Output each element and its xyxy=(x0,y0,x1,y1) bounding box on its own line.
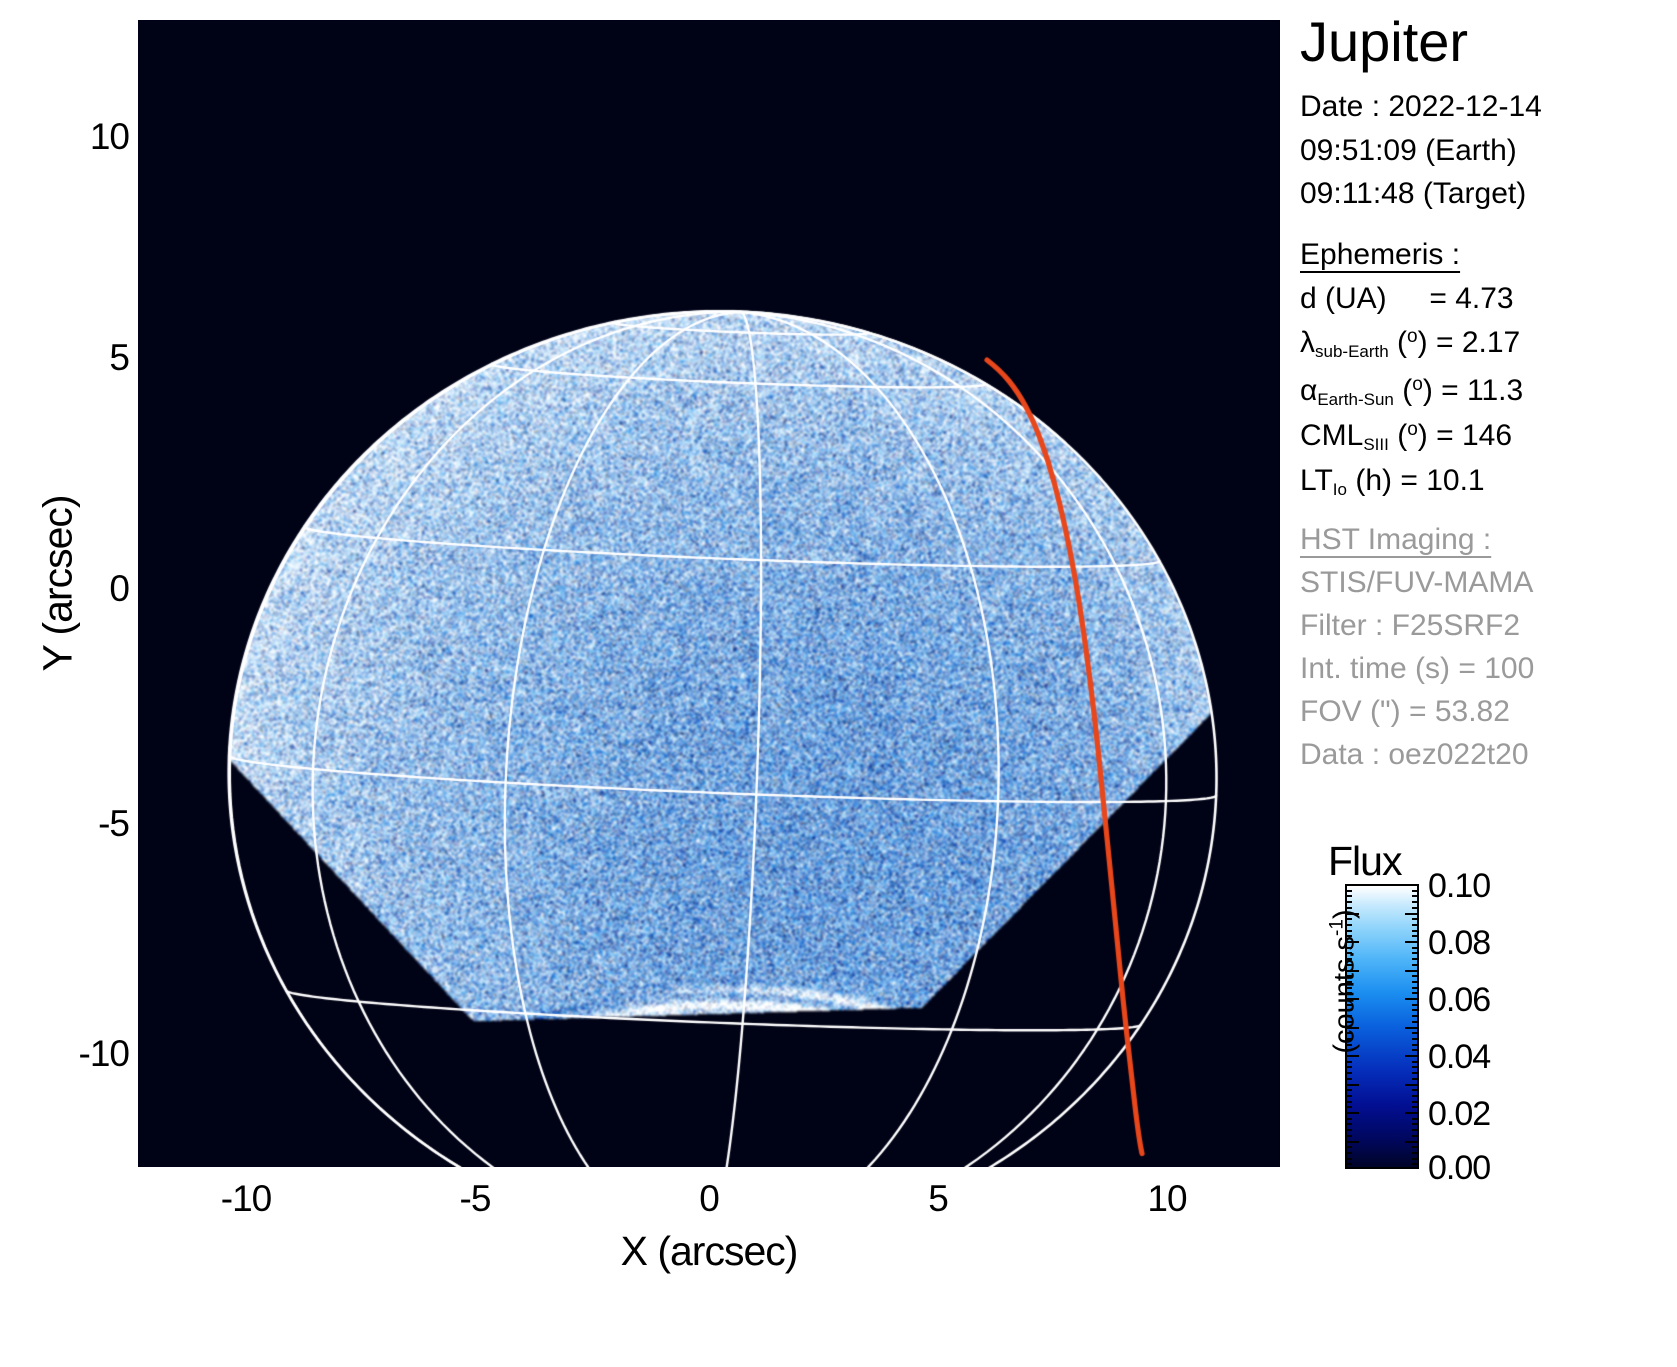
colorbar-minor-tick xyxy=(1345,964,1352,966)
colorbar-minor-tick xyxy=(1345,1129,1352,1131)
colorbar-minor-tick xyxy=(1345,1135,1352,1137)
colorbar-minor-tick xyxy=(1345,930,1352,932)
colorbar-minor-tick xyxy=(1405,913,1419,915)
colorbar-minor-tick xyxy=(1405,1141,1419,1143)
colorbar-minor-tick xyxy=(1412,918,1419,920)
colorbar-minor-tick xyxy=(1345,1152,1352,1154)
colorbar-minor-tick xyxy=(1412,1015,1419,1017)
x-axis-label: X (arcsec) xyxy=(0,1228,1418,1275)
colorbar-minor-tick xyxy=(1345,992,1352,994)
colorbar-minor-tick xyxy=(1412,1118,1419,1120)
colorbar-minor-tick xyxy=(1345,981,1352,983)
colorbar-minor-tick xyxy=(1412,975,1419,977)
ephemeris-symbol: LT xyxy=(1300,464,1333,497)
colorbar-minor-tick xyxy=(1345,1015,1352,1017)
colorbar-minor-tick xyxy=(1412,1032,1419,1034)
x-tick-m10: -10 xyxy=(186,1178,306,1220)
colorbar-minor-tick xyxy=(1412,1089,1419,1091)
ephemeris-unit: (o) xyxy=(1402,374,1433,407)
colorbar-minor-tick xyxy=(1345,1118,1352,1120)
colorbar-minor-tick xyxy=(1412,1095,1419,1097)
ephemeris-subscript: Io xyxy=(1333,480,1347,499)
ephemeris-unit: (h) xyxy=(1355,464,1392,497)
colorbar-minor-tick xyxy=(1412,1135,1419,1137)
colorbar-minor-tick xyxy=(1412,1072,1419,1074)
y-axis-label: Y (arcsec) xyxy=(35,434,82,734)
colorbar-minor-tick xyxy=(1345,958,1352,960)
colorbar-minor-tick xyxy=(1405,970,1419,972)
x-tick-0: 0 xyxy=(649,1178,769,1220)
colorbar-minor-tick xyxy=(1345,1072,1352,1074)
colorbar-minor-tick xyxy=(1345,975,1352,977)
ephemeris-symbol: CML xyxy=(1300,419,1363,452)
ephemeris-row-sub-earth-lat: λsub-Earth (o) = 2.17 xyxy=(1300,328,1520,358)
ephemeris-symbol: d (UA) xyxy=(1300,282,1387,315)
ephemeris-subscript: Earth-Sun xyxy=(1317,390,1394,409)
ephemeris-row-phase-angle: αEarth-Sun (o) = 11.3 xyxy=(1300,376,1523,406)
colorbar-minor-tick xyxy=(1412,1078,1419,1080)
colorbar-minor-tick xyxy=(1412,981,1419,983)
aurora-image-canvas xyxy=(138,20,1280,1167)
colorbar-minor-tick xyxy=(1345,913,1359,915)
colorbar-minor-tick xyxy=(1345,987,1352,989)
ephemeris-row-distance: d (UA) = 4.73 xyxy=(1300,284,1514,314)
colorbar-minor-tick xyxy=(1345,890,1352,892)
colorbar-minor-tick xyxy=(1345,901,1352,903)
colorbar-minor-tick xyxy=(1345,907,1352,909)
colorbar-minor-tick xyxy=(1412,987,1419,989)
colorbar-minor-tick xyxy=(1345,1009,1352,1011)
colorbar-minor-tick xyxy=(1412,1152,1419,1154)
colorbar-minor-tick xyxy=(1345,1004,1352,1006)
ephemeris-symbol: α xyxy=(1300,374,1317,407)
ephemeris-unit: (o) xyxy=(1397,326,1428,359)
page-title: Jupiter xyxy=(1300,14,1468,70)
colorbar-minor-tick xyxy=(1412,1106,1419,1108)
observation-date: Date : 2022-12-14 xyxy=(1300,92,1542,122)
colorbar-title: Flux xyxy=(1328,838,1401,885)
colorbar-minor-tick xyxy=(1405,1084,1419,1086)
colorbar-minor-tick xyxy=(1412,1049,1419,1051)
aurora-image-plot xyxy=(138,20,1280,1167)
hst-data-id: Data : oez022t20 xyxy=(1300,740,1529,770)
hst-int-time: Int. time (s) = 100 xyxy=(1300,654,1534,684)
colorbar-minor-tick xyxy=(1412,890,1419,892)
colorbar-minor-tick xyxy=(1412,901,1419,903)
colorbar-minor-tick xyxy=(1412,1061,1419,1063)
ephemeris-heading: Ephemeris : xyxy=(1300,240,1538,270)
colorbar-minor-tick xyxy=(1345,1038,1352,1040)
colorbar-minor-tick xyxy=(1345,998,1359,1000)
colorbar-minor-tick xyxy=(1345,1078,1352,1080)
ephemeris-value: = 11.3 xyxy=(1441,374,1523,407)
colorbar-minor-tick xyxy=(1412,992,1419,994)
colorbar-minor-tick xyxy=(1412,930,1419,932)
observation-time-target: 09:11:48 (Target) xyxy=(1300,179,1526,209)
colorbar-minor-tick xyxy=(1412,895,1419,897)
colorbar-minor-tick xyxy=(1412,952,1419,954)
colorbar-tick-0.04: 0.04 xyxy=(1428,1038,1490,1077)
colorbar-minor-tick xyxy=(1345,1032,1352,1034)
colorbar-minor-tick xyxy=(1405,998,1419,1000)
colorbar-minor-tick xyxy=(1412,1066,1419,1068)
hst-fov: FOV (") = 53.82 xyxy=(1300,697,1510,727)
colorbar-minor-tick xyxy=(1412,935,1419,937)
hst-instrument: STIS/FUV-MAMA xyxy=(1300,568,1533,598)
colorbar-minor-tick xyxy=(1345,1044,1352,1046)
colorbar-minor-tick xyxy=(1345,918,1352,920)
colorbar-minor-tick xyxy=(1345,1106,1352,1108)
colorbar-minor-tick xyxy=(1345,1095,1352,1097)
colorbar-minor-tick xyxy=(1345,1089,1352,1091)
ephemeris-value: = 2.17 xyxy=(1436,326,1520,359)
colorbar-minor-tick xyxy=(1412,907,1419,909)
colorbar-minor-tick xyxy=(1412,1146,1419,1148)
colorbar-minor-tick xyxy=(1412,1158,1419,1160)
colorbar-minor-tick xyxy=(1412,1101,1419,1103)
x-tick-10: 10 xyxy=(1107,1178,1227,1220)
colorbar-minor-tick xyxy=(1345,924,1352,926)
colorbar-minor-tick xyxy=(1345,1027,1359,1029)
colorbar-minor-tick xyxy=(1345,1158,1352,1160)
colorbar-minor-tick xyxy=(1412,958,1419,960)
colorbar-minor-tick xyxy=(1345,1163,1352,1165)
colorbar-minor-tick xyxy=(1405,941,1419,943)
colorbar-minor-tick xyxy=(1405,1055,1419,1057)
x-tick-5: 5 xyxy=(878,1178,998,1220)
colorbar-minor-tick xyxy=(1405,1027,1419,1029)
colorbar-minor-tick xyxy=(1345,1021,1352,1023)
colorbar-minor-tick xyxy=(1412,1038,1419,1040)
colorbar-minor-tick xyxy=(1345,1055,1359,1057)
colorbar-minor-tick xyxy=(1345,970,1359,972)
colorbar-minor-tick xyxy=(1412,947,1419,949)
colorbar-minor-tick xyxy=(1412,924,1419,926)
colorbar-minor-tick xyxy=(1412,1123,1419,1125)
colorbar-minor-tick xyxy=(1345,1061,1352,1063)
ephemeris-subscript: sub-Earth xyxy=(1315,342,1389,361)
observation-time-earth: 09:51:09 (Earth) xyxy=(1300,136,1517,166)
colorbar-minor-tick xyxy=(1412,1004,1419,1006)
colorbar-tick-0.02: 0.02 xyxy=(1428,1095,1490,1134)
colorbar-minor-tick xyxy=(1345,1066,1352,1068)
colorbar-minor-tick xyxy=(1345,1084,1359,1086)
colorbar-minor-tick xyxy=(1405,1112,1419,1114)
ephemeris-unit: (o) xyxy=(1397,419,1428,452)
hst-imaging-heading: HST Imaging : xyxy=(1300,525,1542,555)
colorbar-minor-tick xyxy=(1345,1112,1359,1114)
colorbar-minor-tick xyxy=(1345,947,1352,949)
ephemeris-row-io-local-time: LTIo (h) = 10.1 xyxy=(1300,466,1485,496)
colorbar-minor-tick xyxy=(1345,935,1352,937)
x-tick-m5: -5 xyxy=(415,1178,535,1220)
colorbar-minor-tick xyxy=(1412,1163,1419,1165)
colorbar-minor-tick xyxy=(1345,1146,1352,1148)
colorbar-minor-tick xyxy=(1345,1123,1352,1125)
colorbar-minor-tick xyxy=(1412,1044,1419,1046)
colorbar-minor-tick xyxy=(1345,1049,1352,1051)
colorbar-minor-tick xyxy=(1345,1141,1359,1143)
colorbar-tick-0.06: 0.06 xyxy=(1428,981,1490,1020)
ephemeris-value: = 146 xyxy=(1436,419,1512,452)
colorbar-tick-0.08: 0.08 xyxy=(1428,924,1490,963)
ephemeris-value: = 10.1 xyxy=(1400,464,1484,497)
colorbar-tick-0.00: 0.00 xyxy=(1428,1149,1490,1188)
colorbar-minor-tick xyxy=(1412,964,1419,966)
colorbar-minor-tick xyxy=(1412,1021,1419,1023)
colorbar-minor-tick xyxy=(1345,941,1359,943)
colorbar-tick-0.10: 0.10 xyxy=(1428,867,1490,906)
colorbar-minor-tick xyxy=(1412,1129,1419,1131)
hst-filter: Filter : F25SRF2 xyxy=(1300,611,1520,641)
ephemeris-symbol: λ xyxy=(1300,326,1315,359)
colorbar-minor-tick xyxy=(1345,1101,1352,1103)
ephemeris-value: = 4.73 xyxy=(1429,282,1513,315)
ephemeris-subscript: SIII xyxy=(1363,435,1389,454)
ephemeris-row-cml: CMLSIII (o) = 146 xyxy=(1300,421,1512,451)
colorbar-minor-tick xyxy=(1345,895,1352,897)
colorbar-minor-tick xyxy=(1412,1009,1419,1011)
colorbar-minor-tick xyxy=(1345,952,1352,954)
